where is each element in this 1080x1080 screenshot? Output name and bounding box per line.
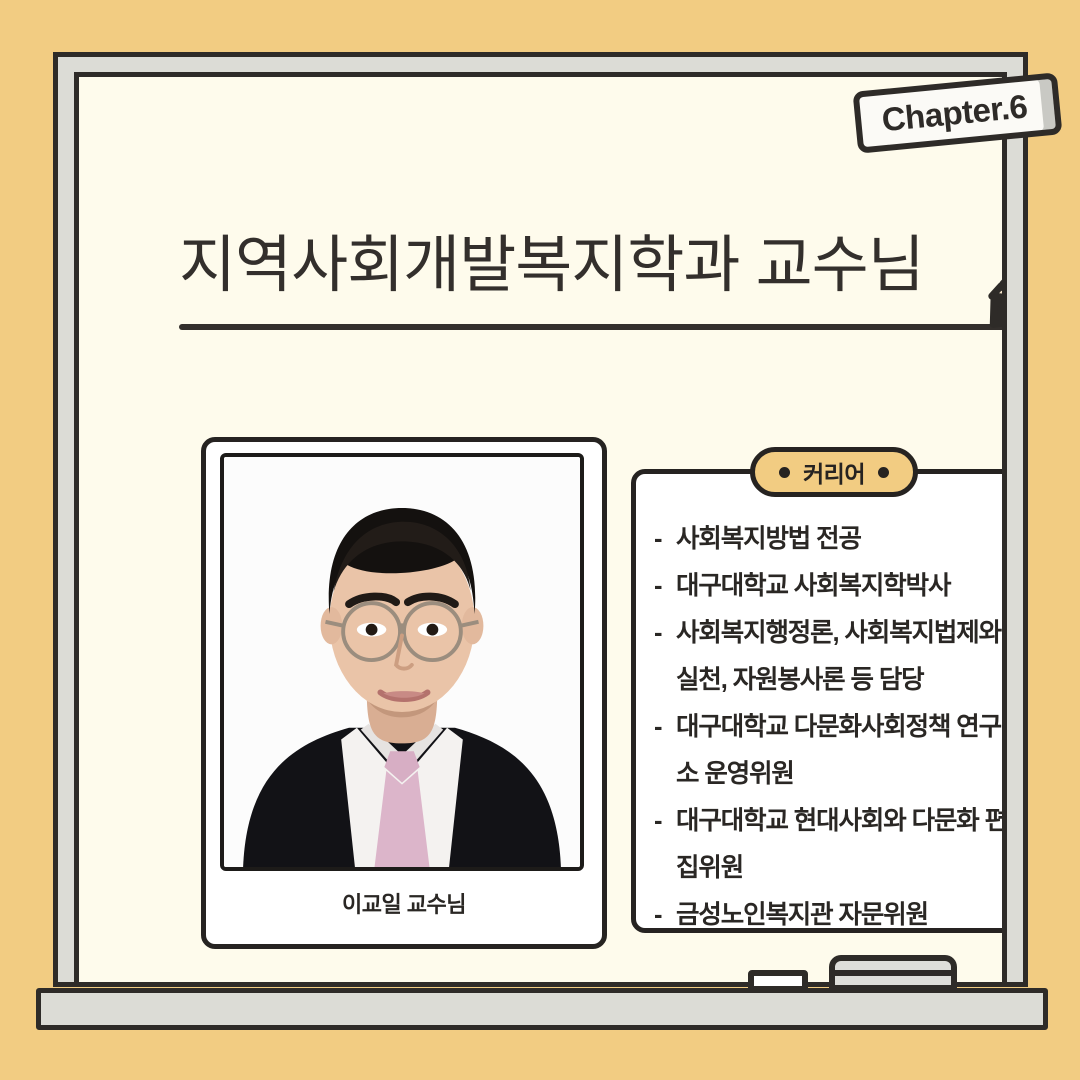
list-item-label: 사회복지행정론, 사회복지법제와 실천, 자원봉사론 등 담당 [676, 610, 1007, 704]
page-title: 지역사회개발복지학과 교수님 [179, 214, 924, 304]
list-item: - 대구대학교 다문화사회정책 연구소 운영위원 [654, 704, 1007, 798]
title-underline [179, 324, 1005, 330]
list-bullet: - [654, 892, 676, 939]
list-item-label: 금성노인복지관 자문위원 [676, 892, 1007, 939]
professor-portrait-image [224, 457, 580, 867]
career-badge: 커리어 [750, 447, 918, 497]
whiteboard-tray [36, 988, 1048, 1030]
list-item: - 금성노인복지관 자문위원 [654, 892, 1007, 939]
whiteboard-surface: 지역사회개발복지학과 교수님 [74, 72, 1007, 982]
whiteboard-frame: 지역사회개발복지학과 교수님 [53, 52, 1028, 987]
professor-portrait-frame [220, 453, 584, 871]
list-bullet: - [654, 563, 676, 610]
list-item-label: 대구대학교 사회복지학박사 [676, 563, 1007, 610]
list-item-label: 대구대학교 현대사회와 다문화 편집위원 [676, 798, 1007, 892]
whiteboard-eraser-icon [829, 955, 957, 991]
career-list: - 사회복지방법 전공 - 대구대학교 사회복지학박사 - 사회복지행정론, 사… [654, 516, 1007, 939]
professor-photo-card: 이교일 교수님 [201, 437, 607, 949]
career-badge-label: 커리어 [803, 455, 865, 489]
list-bullet: - [654, 516, 676, 563]
career-card: 커리어 - 사회복지방법 전공 - 대구대학교 사회복지학박사 - 사회복지행정… [631, 469, 1007, 933]
pencil-icon [973, 245, 1007, 337]
list-bullet: - [654, 798, 676, 845]
chapter-tag-label: Chapter.6 [880, 87, 1029, 139]
list-item-label: 사회복지방법 전공 [676, 516, 1007, 563]
badge-dot-right [878, 467, 889, 478]
list-item-label: 대구대학교 다문화사회정책 연구소 운영위원 [676, 704, 1007, 798]
list-item: - 사회복지행정론, 사회복지법제와 실천, 자원봉사론 등 담당 [654, 610, 1007, 704]
photo-caption: 이교일 교수님 [206, 887, 602, 919]
list-item: - 대구대학교 현대사회와 다문화 편집위원 [654, 798, 1007, 892]
list-bullet: - [654, 610, 676, 657]
list-item: - 사회복지방법 전공 [654, 516, 1007, 563]
badge-dot-left [779, 467, 790, 478]
list-item: - 대구대학교 사회복지학박사 [654, 563, 1007, 610]
list-bullet: - [654, 704, 676, 751]
